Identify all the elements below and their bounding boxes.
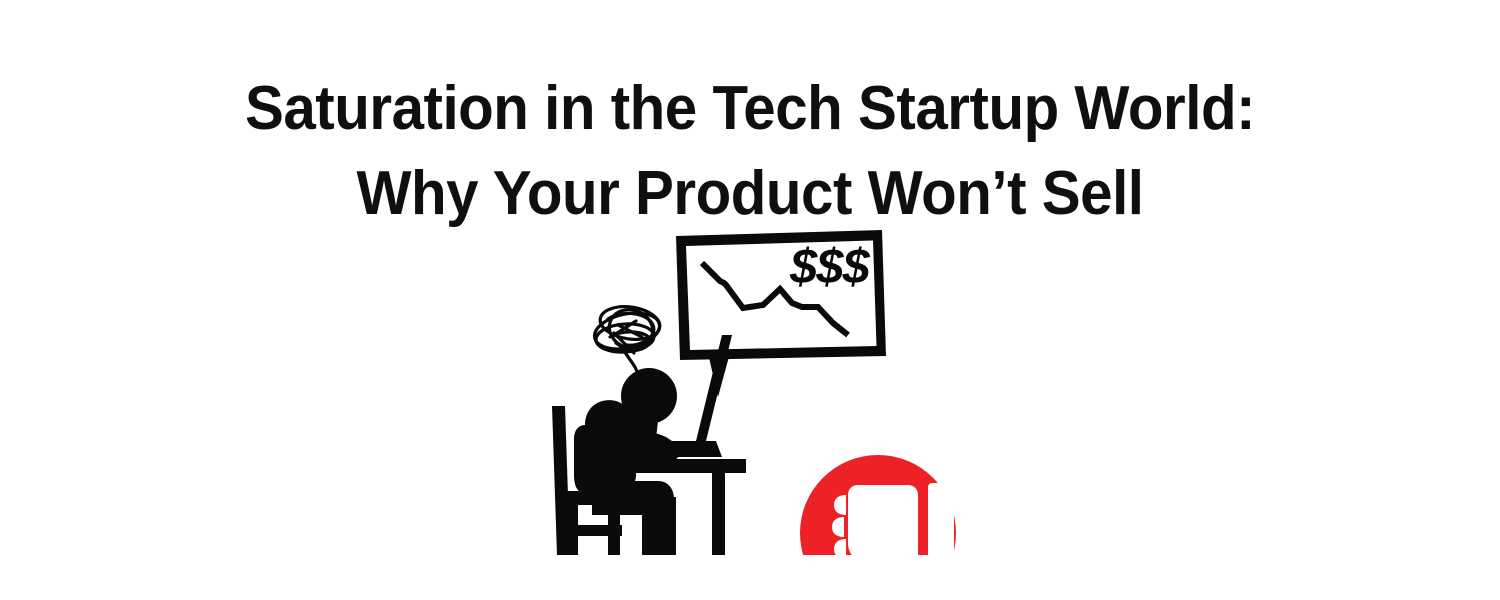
thumbs-down-icon [800,455,956,555]
money-label: $$$ [789,240,871,294]
page-title-line-2: Why Your Product Won’t Sell [45,151,1455,236]
page-title: Saturation in the Tech Startup World: Wh… [0,66,1500,236]
hero-illustration: $$$ [530,225,980,555]
page-title-line-1: Saturation in the Tech Startup World: [45,66,1455,151]
speech-bubble-chart: $$$ [676,230,886,397]
thumbs-down-glyph [832,483,954,555]
page-root: Saturation in the Tech Startup World: Wh… [0,0,1500,600]
